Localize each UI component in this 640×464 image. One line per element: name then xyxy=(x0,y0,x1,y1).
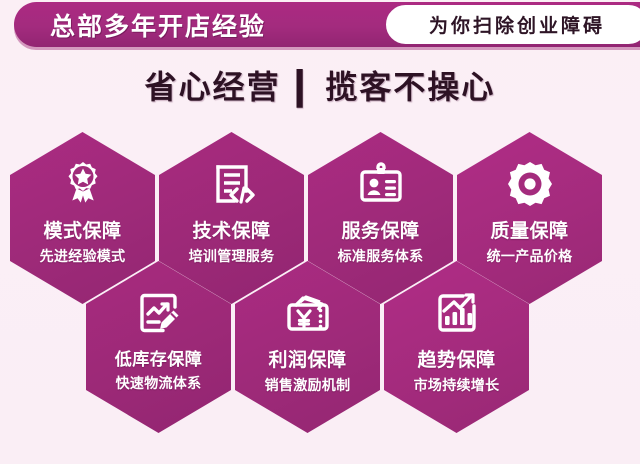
hex-title: 模式保障 xyxy=(43,216,121,243)
hex-grid: 模式保障 先进经验模式 技术保障 培训管理服务 xyxy=(0,0,640,464)
gear-icon xyxy=(504,158,556,210)
hex-subtitle: 标准服务体系 xyxy=(338,246,424,266)
hex-subtitle: 销售激励机制 xyxy=(265,375,351,395)
medal-badge-icon xyxy=(58,158,108,210)
hex-subtitle: 快速物流体系 xyxy=(116,373,202,393)
poster-root: 总部多年开店经验 为你扫除创业障碍 省心经营▌揽客不操心 模式保障 先进经验模式 xyxy=(0,0,640,464)
hex-subtitle: 先进经验模式 xyxy=(40,246,126,266)
document-code-icon xyxy=(206,158,258,210)
hex-subtitle: 统一产品价格 xyxy=(487,246,573,266)
hex-title: 技术保障 xyxy=(192,216,270,243)
money-yuan-icon xyxy=(281,287,335,339)
id-card-icon xyxy=(354,158,408,210)
hex-subtitle: 培训管理服务 xyxy=(189,246,275,266)
hex-title: 服务保障 xyxy=(341,216,419,243)
growth-chart-icon xyxy=(431,287,483,339)
hex-subtitle: 市场持续增长 xyxy=(414,375,500,395)
hex-title: 低库存保障 xyxy=(115,345,203,370)
hex-title: 利润保障 xyxy=(268,345,346,372)
chart-pencil-icon xyxy=(133,287,185,339)
hex-title: 趋势保障 xyxy=(417,345,495,372)
hex-title: 质量保障 xyxy=(490,216,568,243)
